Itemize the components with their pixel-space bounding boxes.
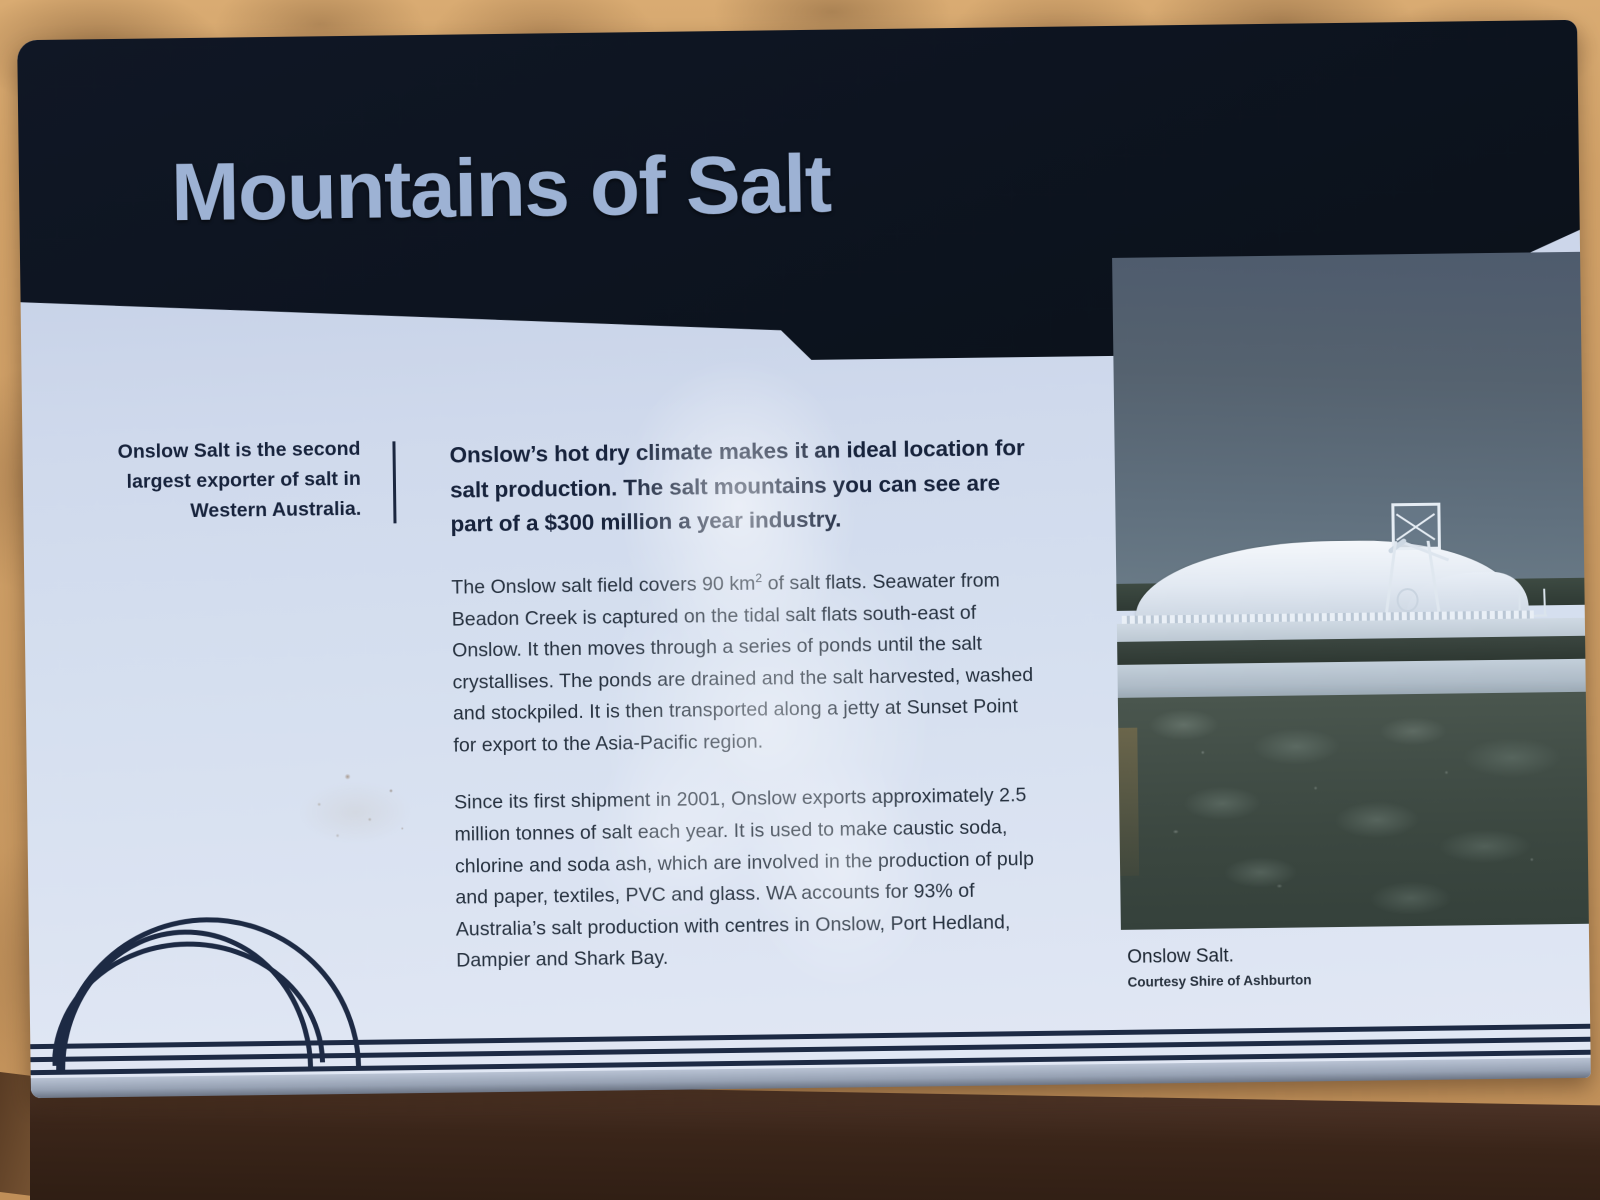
page-title: Mountains of Salt bbox=[171, 138, 832, 241]
photo-scrub-highlights bbox=[1118, 692, 1589, 930]
photo-stacker-reclaimer bbox=[1380, 502, 1452, 617]
salt-stockpile-photograph bbox=[1112, 252, 1589, 930]
caption-title: Onslow Salt. bbox=[1127, 940, 1547, 970]
photo-caption: Onslow Salt. Courtesy Shire of Ashburton bbox=[1127, 940, 1548, 991]
pull-quote: Onslow Salt is the second largest export… bbox=[98, 434, 361, 528]
outdoor-scene: Mountains of Salt Onslow Salt is the sec… bbox=[0, 0, 1600, 1200]
body-paragraph-1: The Onslow salt field covers 90 km2 of s… bbox=[451, 565, 1038, 762]
stacker-wheel bbox=[1396, 588, 1419, 613]
main-text-column: Onslow’s hot dry climate makes it an ide… bbox=[449, 431, 1041, 977]
lead-paragraph: Onslow’s hot dry climate makes it an ide… bbox=[449, 431, 1035, 543]
body-paragraph-2: Since its first shipment in 2001, Onslow… bbox=[454, 780, 1041, 977]
interpretive-sign-panel: Mountains of Salt Onslow Salt is the sec… bbox=[17, 20, 1591, 1098]
photo-edge-grass bbox=[1118, 728, 1139, 876]
